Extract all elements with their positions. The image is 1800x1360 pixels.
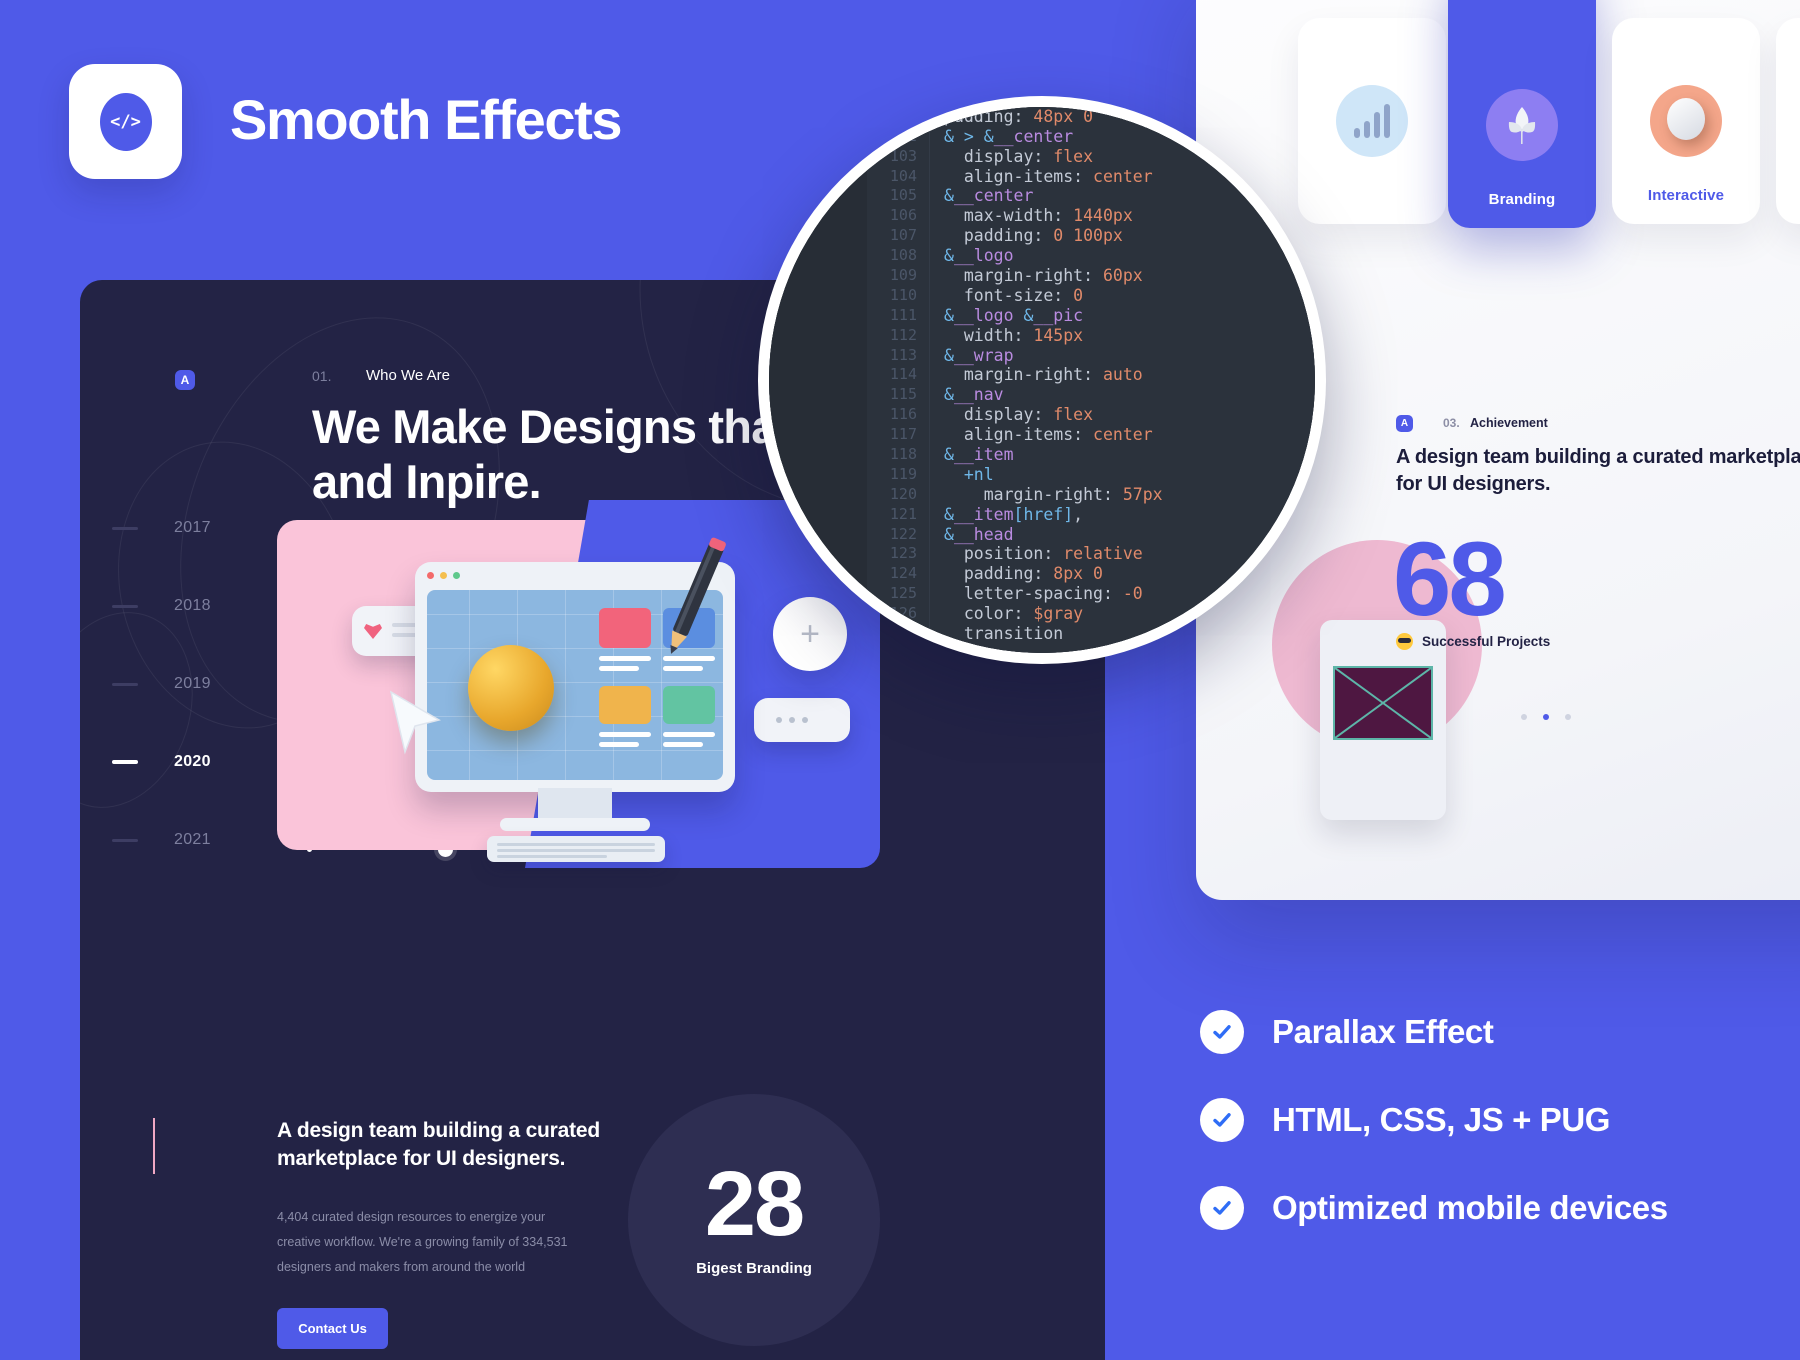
code-line-number: 108 <box>867 246 917 266</box>
stat-caption: Bigest Branding <box>696 1260 812 1277</box>
timeline-year: 2019 <box>174 675 211 693</box>
file-tree-file[interactable]: JSapp.js <box>769 172 867 195</box>
file-tree-folder[interactable]: 🗀lib <box>769 379 867 402</box>
cursor-icon <box>385 690 455 765</box>
code-line-number: 119 <box>867 465 917 485</box>
check-circle-icon <box>1200 1010 1244 1054</box>
timeline-dash-icon <box>112 839 138 842</box>
accent-rule <box>153 1118 155 1174</box>
code-line-number: 113 <box>867 346 917 366</box>
leaf-icon <box>1486 89 1558 161</box>
poster-canvas: Chart Branding Interactive C A <box>0 0 1800 1360</box>
feature-label: Parallax Effect <box>1272 1013 1493 1051</box>
file-tree-file[interactable]: JSslick.min.js <box>769 126 867 149</box>
code-line-number: 123 <box>867 544 917 564</box>
sub-body-text: 4,404 curated design resources to energi… <box>277 1205 577 1280</box>
code-line: & > &__center <box>944 127 1315 147</box>
file-tree-folder[interactable]: 🗀layouts <box>769 494 867 517</box>
code-line-number: 126 <box>867 604 917 624</box>
code-line: max-width: 1440px <box>944 206 1315 226</box>
code-magnifier-lens: JSquery.min.jsJSslick.min.jsJSsvg4everyb… <box>769 107 1315 653</box>
screen-tile <box>599 686 651 724</box>
code-line-number: 105 <box>867 186 917 206</box>
code-editor: JSquery.min.jsJSslick.min.jsJSsvg4everyb… <box>769 107 1315 653</box>
category-card-extra[interactable]: C <box>1776 18 1800 224</box>
code-line-number: 124 <box>867 564 917 584</box>
sub-headline: A design team building a curated marketp… <box>277 1117 697 1172</box>
code-line-number: 115 <box>867 385 917 405</box>
code-line-number: 118 <box>867 445 917 465</box>
stat-number: 28 <box>705 1163 803 1246</box>
achievement-caption: Successful Projects <box>1422 634 1550 649</box>
file-tree-file[interactable]: Sa_reset.sass <box>769 356 867 379</box>
monitor-base <box>500 818 650 831</box>
pencil-icon <box>640 535 750 670</box>
sunglasses-emoji-icon <box>1396 633 1413 650</box>
code-line-number: 110 <box>867 286 917 306</box>
carousel-dot-active[interactable] <box>1543 714 1549 720</box>
check-circle-icon <box>1200 1098 1244 1142</box>
category-card-chart[interactable]: Chart <box>1298 18 1446 224</box>
code-line-number: 107 <box>867 226 917 246</box>
code-line-number: 111 <box>867 306 917 326</box>
stat-circle-branding: 28 Bigest Branding <box>628 1094 880 1346</box>
keyboard-illustration <box>487 836 665 862</box>
code-line: &__head <box>944 525 1315 545</box>
code-line-number: 109 <box>867 266 917 286</box>
code-line-number: 114 <box>867 365 917 385</box>
chat-bubble-right <box>754 698 850 742</box>
file-tree-file[interactable]: Saslick.scss <box>769 402 867 425</box>
file-tree-file[interactable]: Sa_all.sass <box>769 287 867 310</box>
hero-logo-icon: A <box>175 370 195 390</box>
bar-chart-bars <box>1354 104 1390 138</box>
file-tree-file[interactable]: JSquery.min.js <box>769 107 867 126</box>
code-line-numbers: 1001011021031041051061071081091101111121… <box>867 107 929 653</box>
code-line: font-size: 0 <box>944 286 1315 306</box>
file-tree-file[interactable]: Sa_common.s <box>769 425 867 448</box>
sphere-illustration <box>468 645 554 731</box>
file-tree[interactable]: JSquery.min.jsJSslick.min.jsJSsvg4everyb… <box>769 107 867 653</box>
timeline-year: 2021 <box>174 831 211 849</box>
carousel-dot[interactable] <box>1565 714 1571 720</box>
feature-item-stack: HTML, CSS, JS + PUG <box>1200 1098 1668 1142</box>
category-card-label: Branding <box>1489 191 1556 208</box>
timeline-year: 2018 <box>174 597 211 615</box>
file-tree-file[interactable]: Puud.pug <box>769 517 867 540</box>
monitor-window-dots <box>427 572 460 579</box>
code-line: &__logo &__pic <box>944 306 1315 326</box>
code-line: display: flex <box>944 405 1315 425</box>
achievement-number: 03. <box>1443 416 1460 430</box>
code-line: margin-right: auto <box>944 365 1315 385</box>
code-line: &__wrap <box>944 346 1315 366</box>
achievement-label: Achievement <box>1470 416 1548 430</box>
code-line-number: 117 <box>867 425 917 445</box>
code-line-number: 116 <box>867 405 917 425</box>
logo-glyph: </> <box>110 112 141 132</box>
timeline-dash-icon <box>112 683 138 686</box>
feature-label: Optimized mobile devices <box>1272 1189 1668 1227</box>
check-circle-icon <box>1200 1186 1244 1230</box>
timeline-dash-icon <box>112 760 138 764</box>
code-line: margin-right: 60px <box>944 266 1315 286</box>
code-line: display: flex <box>944 147 1315 167</box>
code-line: width: 145px <box>944 326 1315 346</box>
code-line-number: 125 <box>867 584 917 604</box>
code-line: padding: 8px 0 <box>944 564 1315 584</box>
file-tree-folder[interactable]: 🗀sass <box>769 218 867 241</box>
file-tree-label: svg4everybody <box>769 153 782 168</box>
section-label: Who We Are <box>366 367 450 384</box>
code-line: &__item <box>944 445 1315 465</box>
code-line: position: relative <box>944 544 1315 564</box>
code-magnifier: JSquery.min.jsJSslick.min.jsJSsvg4everyb… <box>758 96 1326 664</box>
file-tree-file[interactable]: Sa_helpers.sass <box>769 310 867 333</box>
code-line: letter-spacing: -0 <box>944 584 1315 604</box>
code-line: &__center <box>944 186 1315 206</box>
app-logo-tile: </> <box>69 64 182 179</box>
bar-chart-icon <box>1336 85 1408 157</box>
device-preview-thumbnail <box>1333 666 1433 740</box>
code-line: padding: 0 100px <box>944 226 1315 246</box>
file-tree-label: _helpers.sass <box>769 314 774 329</box>
category-card-interactive[interactable]: Interactive <box>1612 18 1760 224</box>
screen-tile <box>663 686 715 724</box>
section-number: 01. <box>312 368 331 384</box>
code-line: +nl <box>944 465 1315 485</box>
file-tree-file[interactable]: Saapp.sass <box>769 448 867 471</box>
category-card-label: Interactive <box>1648 187 1724 204</box>
code-line-number: 121 <box>867 505 917 525</box>
achievement-logo-glyph: A <box>1401 418 1408 429</box>
monitor-stand <box>538 788 612 822</box>
file-tree-folder[interactable]: 🗀templates <box>769 471 867 494</box>
code-line: &__nav <box>944 385 1315 405</box>
code-line: padding: 48px 0 <box>944 107 1315 127</box>
code-line: align-items: center <box>944 425 1315 445</box>
code-line-number: 101 <box>867 107 917 127</box>
hero-logo-glyph: A <box>181 374 190 386</box>
code-line: color: $gray <box>944 604 1315 624</box>
code-line: &__logo <box>944 246 1315 266</box>
timeline-year: 2017 <box>174 519 211 537</box>
achievement-headline: A design team building a curated marketp… <box>1396 444 1800 498</box>
code-line-number: 103 <box>867 147 917 167</box>
code-line-number: 106 <box>867 206 917 226</box>
page-title: Smooth Effects <box>230 87 621 152</box>
category-card-branding[interactable]: Branding <box>1448 0 1596 228</box>
code-line-number: 112 <box>867 326 917 346</box>
code-line-number: 104 <box>867 167 917 187</box>
contact-us-button[interactable]: Contact Us <box>277 1308 388 1349</box>
code-line: transition <box>944 624 1315 644</box>
code-line-number: 102 <box>867 127 917 147</box>
timeline-dash-icon <box>112 527 138 530</box>
code-line: &__item[href], <box>944 505 1315 525</box>
feature-label: HTML, CSS, JS + PUG <box>1272 1101 1610 1139</box>
file-tree-file[interactable]: JSsvg4everybody <box>769 149 867 172</box>
carousel-dots[interactable] <box>1196 714 1800 720</box>
feature-item-parallax: Parallax Effect <box>1200 1010 1668 1054</box>
code-line-number: 122 <box>867 525 917 545</box>
file-tree-file[interactable]: Sa_mixins.sass <box>769 333 867 356</box>
feature-item-mobile: Optimized mobile devices <box>1200 1186 1668 1230</box>
timeline-year: 2020 <box>174 753 211 771</box>
code-line-number: 127 <box>867 624 917 644</box>
code-line: align-items: center <box>944 167 1315 187</box>
knob-icon <box>1650 85 1722 157</box>
carousel-dot[interactable] <box>1521 714 1527 720</box>
file-tree-folder[interactable]: 🗀generated <box>769 241 867 264</box>
file-tree-folder[interactable]: 🗀helpers <box>769 264 867 287</box>
achievement-caption-row: Successful Projects <box>1396 633 1550 650</box>
file-tree-file[interactable]: JScommon.js <box>769 195 867 218</box>
achievement-big-number: 68 <box>1393 527 1504 632</box>
code-content[interactable]: z-index: 10padding: 48px 0& > &__center … <box>929 107 1315 653</box>
code-line: margin-right: 57px <box>944 485 1315 505</box>
code-brackets-icon: </> <box>100 93 152 151</box>
achievement-logo-icon: A <box>1396 415 1413 432</box>
code-line-number: 120 <box>867 485 917 505</box>
feature-list: Parallax Effect HTML, CSS, JS + PUG Opti… <box>1200 1010 1668 1274</box>
timeline-dash-icon <box>112 605 138 608</box>
